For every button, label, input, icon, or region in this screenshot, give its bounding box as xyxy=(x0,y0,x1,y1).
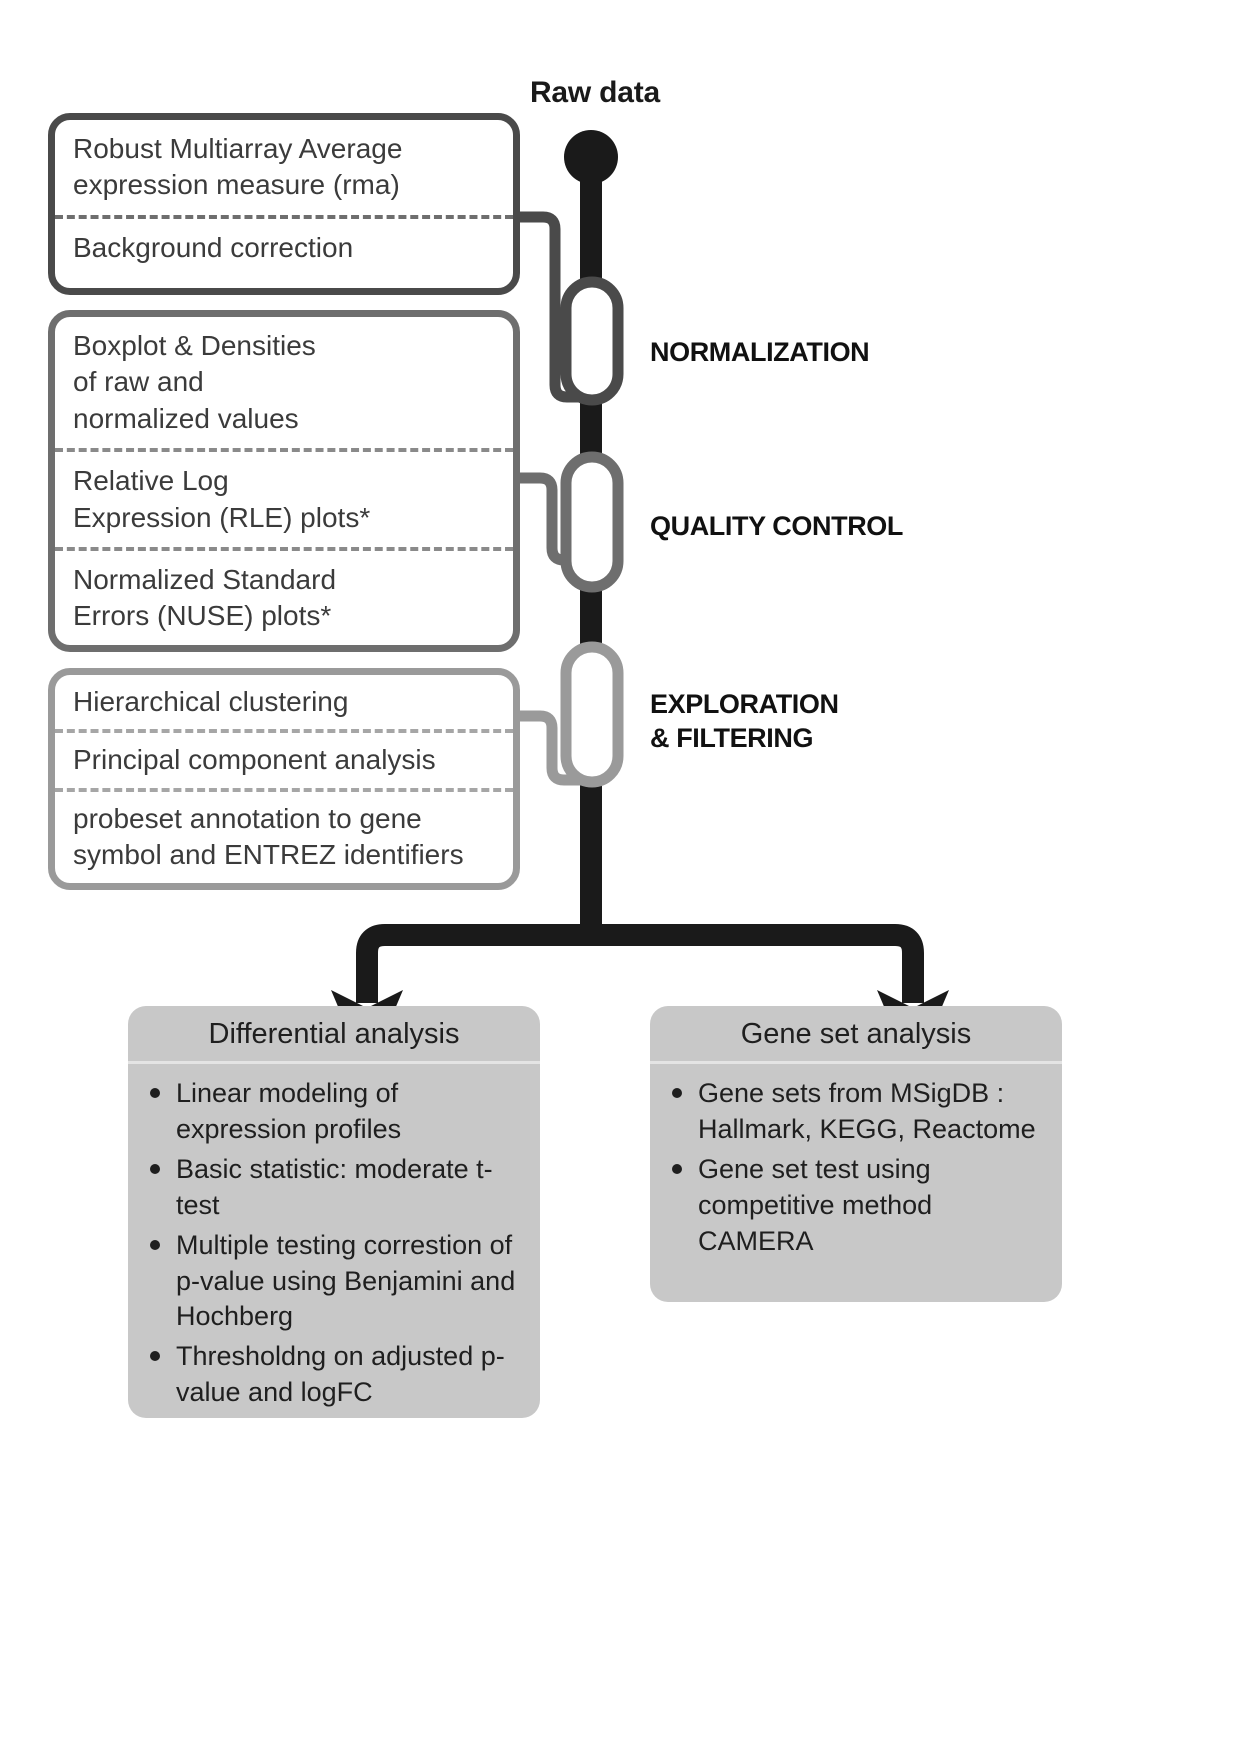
stage-node-quality-control xyxy=(566,457,618,587)
stage-section-nuse-plots: Normalized Standard Errors (NUSE) plots* xyxy=(55,547,513,646)
stage-section-pca: Principal component analysis xyxy=(55,729,513,787)
raw-data-node xyxy=(564,130,618,184)
stage-label-normalization: NORMALIZATION xyxy=(650,336,869,370)
connector-normalization xyxy=(520,217,580,397)
output-panel-gene-set-analysis: Gene set analysis Gene sets from MSigDB … xyxy=(650,1006,1062,1302)
stage-section-rma: Robust Multiarray Average expression mea… xyxy=(55,120,513,215)
stage-node-exploration xyxy=(566,647,618,782)
bullet-icon xyxy=(150,1240,160,1250)
bullet-icon xyxy=(150,1088,160,1098)
list-item-label: Thresholdng on adjusted p-value and logF… xyxy=(176,1341,505,1407)
output-panel-differential-analysis: Differential analysis Linear modeling of… xyxy=(128,1006,540,1418)
connector-quality-control xyxy=(520,478,580,560)
list-item: Multiple testing correstion of p-value u… xyxy=(148,1228,524,1336)
fork-connector xyxy=(367,930,913,1003)
list-item-label: Gene set test using competitive method C… xyxy=(698,1154,932,1256)
output-panel-title: Gene set analysis xyxy=(650,1006,1062,1064)
list-item: Linear modeling of expression profiles xyxy=(148,1076,524,1148)
list-item: Basic statistic: moderate t-test xyxy=(148,1152,524,1224)
stage-label-exploration: EXPLORATION & FILTERING xyxy=(650,688,839,756)
output-panel-title: Differential analysis xyxy=(128,1006,540,1064)
list-item-label: Gene sets from MSigDB : Hallmark, KEGG, … xyxy=(698,1078,1036,1144)
flowchart-canvas: Raw data Robust Multiarray Average expre… xyxy=(0,0,1240,1753)
output-panel-list: Linear modeling of expression profiles B… xyxy=(128,1064,540,1418)
bullet-icon xyxy=(672,1088,682,1098)
raw-data-title: Raw data xyxy=(430,76,760,110)
stage-box-normalization: Robust Multiarray Average expression mea… xyxy=(48,113,520,295)
list-item-label: Basic statistic: moderate t-test xyxy=(176,1154,493,1220)
bullet-icon xyxy=(150,1164,160,1174)
list-item-label: Multiple testing correstion of p-value u… xyxy=(176,1230,515,1332)
stage-box-exploration: Hierarchical clustering Principal compon… xyxy=(48,668,520,890)
connector-exploration xyxy=(520,716,580,780)
stage-section-hierarchical-clustering: Hierarchical clustering xyxy=(55,675,513,729)
output-panel-list: Gene sets from MSigDB : Hallmark, KEGG, … xyxy=(650,1064,1062,1282)
spine-black-line xyxy=(580,150,602,935)
list-item: Gene set test using competitive method C… xyxy=(670,1152,1046,1260)
stage-section-background-correction: Background correction xyxy=(55,215,513,277)
stage-node-normalization xyxy=(566,282,618,400)
list-item: Gene sets from MSigDB : Hallmark, KEGG, … xyxy=(670,1076,1046,1148)
list-item: Thresholdng on adjusted p-value and logF… xyxy=(148,1339,524,1411)
list-item-label: Linear modeling of expression profiles xyxy=(176,1078,401,1144)
stage-section-rle-plots: Relative Log Expression (RLE) plots* xyxy=(55,448,513,547)
stage-section-boxplot-densities: Boxplot & Densities of raw and normalize… xyxy=(55,317,513,448)
stage-section-probeset-annotation: probeset annotation to gene symbol and E… xyxy=(55,788,513,883)
stage-box-quality-control: Boxplot & Densities of raw and normalize… xyxy=(48,310,520,652)
bullet-icon xyxy=(672,1164,682,1174)
bullet-icon xyxy=(150,1351,160,1361)
stage-label-quality-control: QUALITY CONTROL xyxy=(650,510,903,544)
